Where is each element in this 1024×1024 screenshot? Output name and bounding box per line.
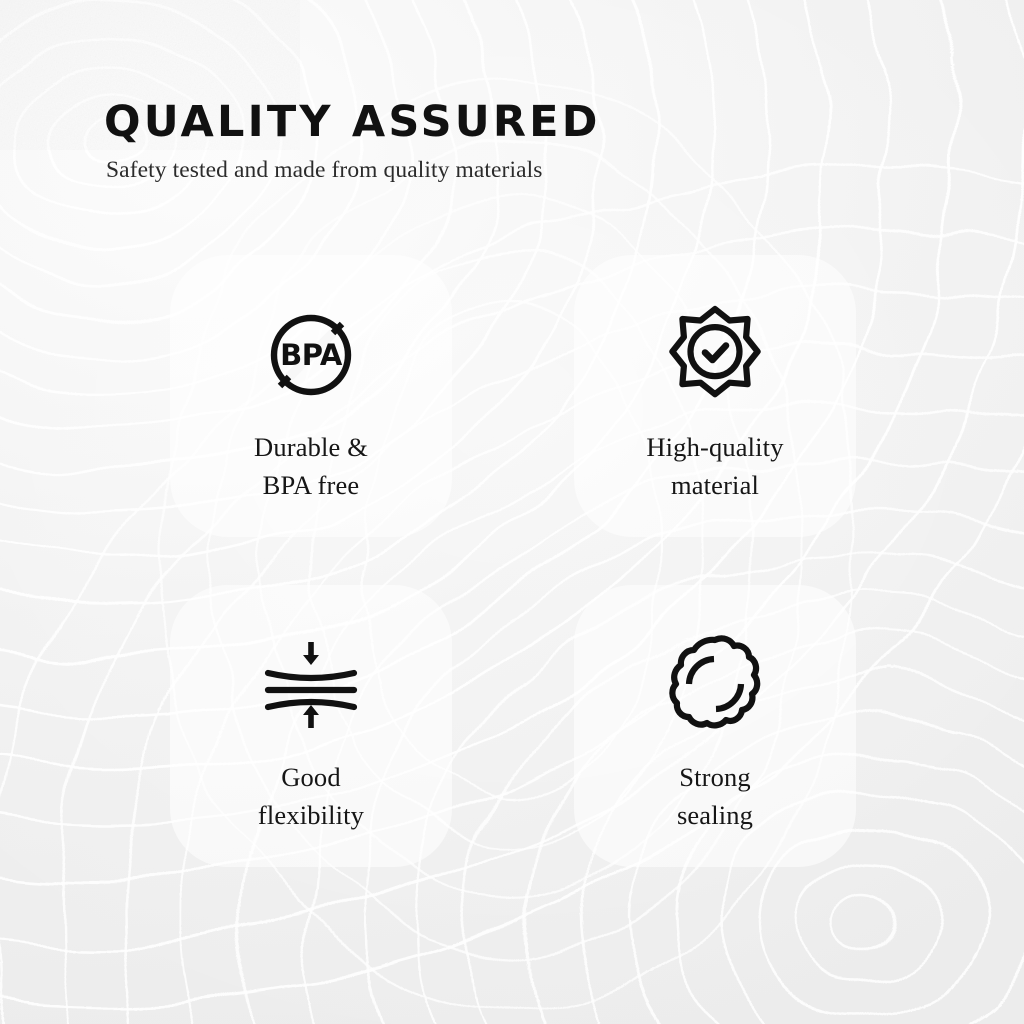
page-title: QUALITY ASSURED xyxy=(104,100,924,145)
feature-label-line1: Durable & xyxy=(254,432,368,462)
feature-label-line2: BPA free xyxy=(254,467,368,505)
feature-label-line2: material xyxy=(646,467,783,505)
header: QUALITY ASSURED Safety tested and made f… xyxy=(104,100,924,184)
feature-label-high-quality-material: High-quality material xyxy=(646,429,783,504)
feature-label-line1: Good xyxy=(281,762,341,792)
feature-label-line2: flexibility xyxy=(258,797,364,835)
bpa-free-icon: BPA xyxy=(259,303,363,407)
seal-icon xyxy=(663,633,767,737)
feature-label-line2: sealing xyxy=(677,797,753,835)
feature-card-high-quality-material[interactable]: High-quality material xyxy=(574,255,856,537)
feature-card-bpa-free[interactable]: BPA Durable & BPA free xyxy=(170,255,452,537)
feature-card-strong-sealing[interactable]: Strong sealing xyxy=(574,585,856,867)
bpa-icon-text: BPA xyxy=(280,338,343,372)
feature-label-line1: High-quality xyxy=(646,432,783,462)
feature-card-good-flexibility[interactable]: Good flexibility xyxy=(170,585,452,867)
quality-badge-check-icon xyxy=(663,303,767,407)
flexibility-arrows-icon xyxy=(259,633,363,737)
page-subtitle: Safety tested and made from quality mate… xyxy=(106,157,924,184)
feature-label-strong-sealing: Strong sealing xyxy=(677,759,753,834)
quality-assured-infographic: QUALITY ASSURED Safety tested and made f… xyxy=(0,0,1024,1024)
feature-label-line1: Strong xyxy=(679,762,751,792)
feature-card-grid: BPA Durable & BPA free High-quality mat xyxy=(170,255,856,867)
feature-label-bpa-free: Durable & BPA free xyxy=(254,429,368,504)
feature-label-good-flexibility: Good flexibility xyxy=(258,759,364,834)
